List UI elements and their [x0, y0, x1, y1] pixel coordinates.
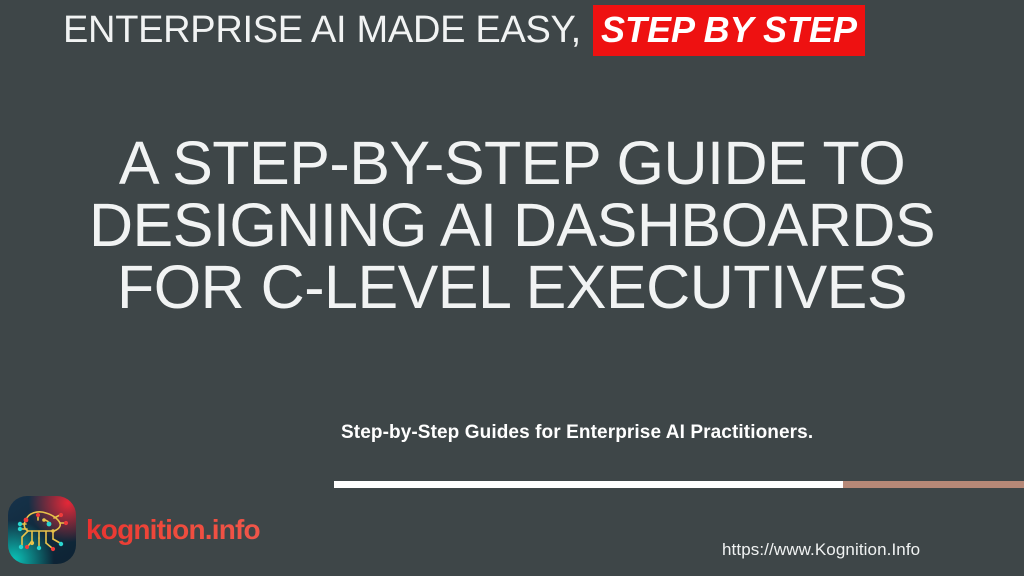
- title-line-2: DESIGNING AI DASHBOARDS: [0, 194, 1024, 256]
- logo-wordmark: kognition.info: [86, 514, 260, 546]
- slide-subtitle: Step-by-Step Guides for Enterprise AI Pr…: [341, 422, 813, 444]
- site-url: https://www.Kognition.Info: [722, 540, 920, 560]
- page-title: A STEP-BY-STEP GUIDE TO DESIGNING AI DAS…: [0, 132, 1024, 318]
- presentation-slide: ENTERPRISE AI MADE EASY, STEP BY STEP A …: [0, 0, 1024, 576]
- slide-kicker: ENTERPRISE AI MADE EASY, STEP BY STEP: [63, 4, 865, 56]
- divider-segment-white: [334, 481, 843, 488]
- brand-logo: kognition.info: [8, 496, 260, 564]
- title-line-1: A STEP-BY-STEP GUIDE TO: [0, 132, 1024, 194]
- accent-divider: [334, 481, 1024, 488]
- divider-segment-tan: [843, 481, 1024, 488]
- kicker-plain-text: ENTERPRISE AI MADE EASY,: [63, 11, 581, 49]
- title-line-3: FOR C-LEVEL EXECUTIVES: [0, 256, 1024, 318]
- kicker-highlight-badge: STEP BY STEP: [593, 5, 865, 56]
- circuit-brain-icon: [8, 496, 76, 564]
